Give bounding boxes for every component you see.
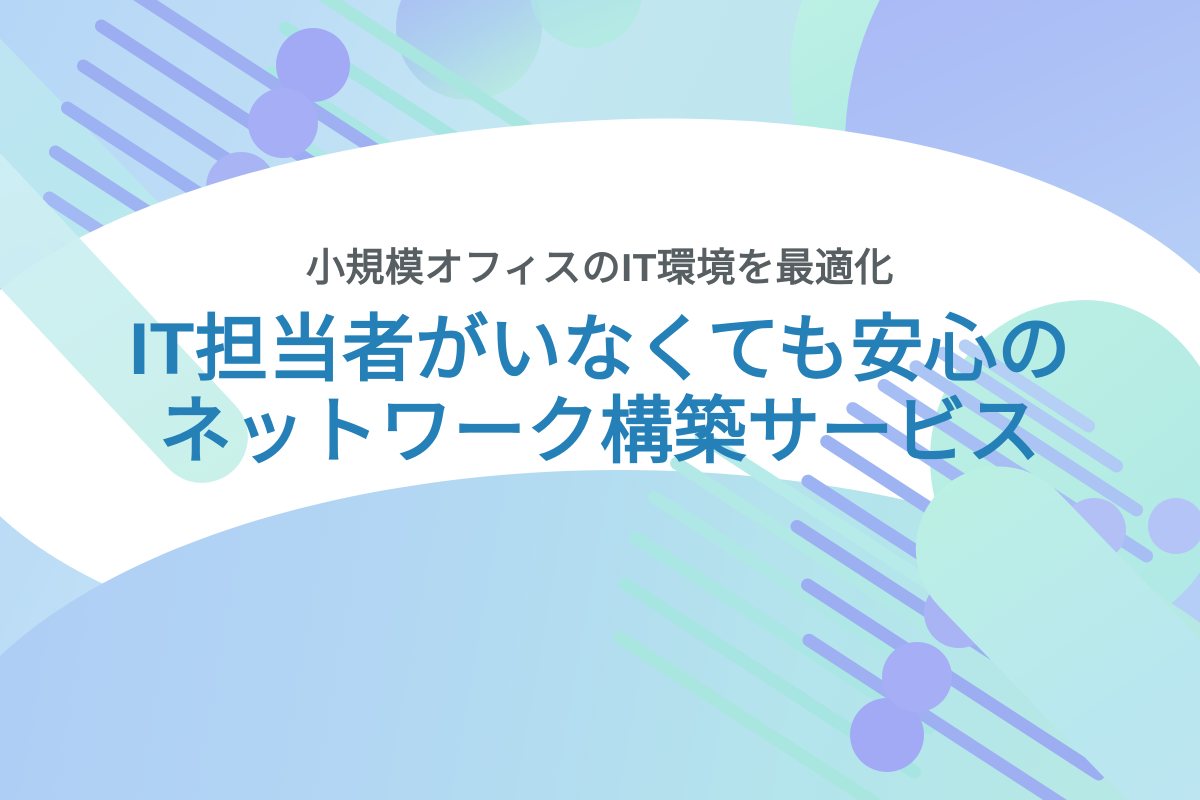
banner-title: IT担当者がいなくても安心の ネットワーク構築サービス — [0, 309, 1200, 473]
headline-block: 小規模オフィスのIT環境を最適化 IT担当者がいなくても安心の ネットワーク構築… — [0, 246, 1200, 472]
decoration-dot — [1148, 498, 1200, 554]
banner-subtitle: 小規模オフィスのIT環境を最適化 — [0, 246, 1200, 293]
banner-title-line-1: IT担当者がいなくても安心の — [0, 309, 1200, 391]
banner-root: 小規模オフィスのIT環境を最適化 IT担当者がいなくても安心の ネットワーク構築… — [0, 0, 1200, 800]
decoration-dot — [248, 88, 318, 158]
banner-title-line-2: ネットワーク構築サービス — [0, 391, 1200, 473]
decoration-dot — [882, 642, 952, 712]
